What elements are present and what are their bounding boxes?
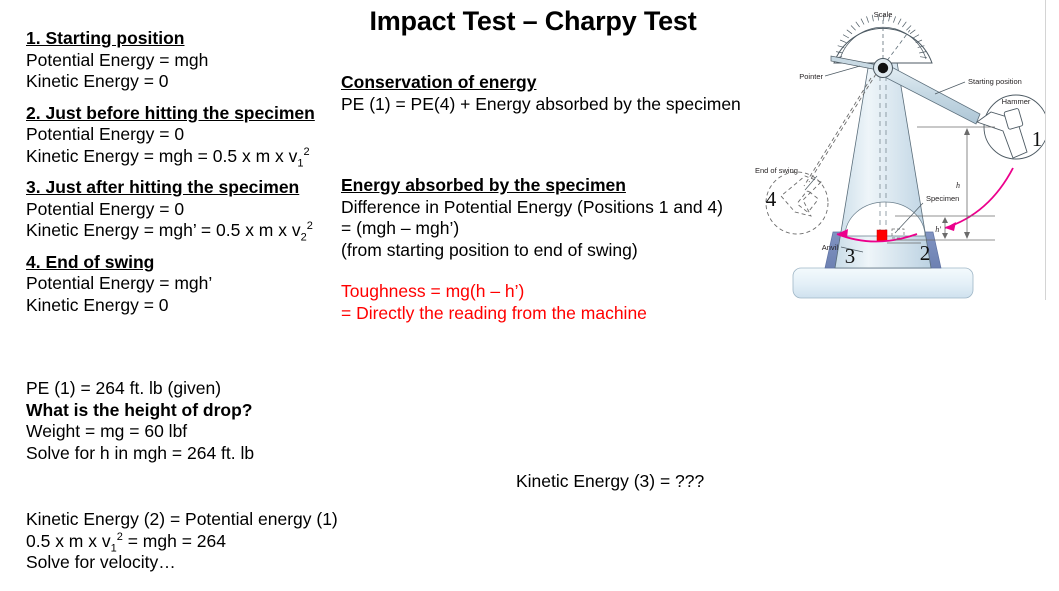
pointer-label: Pointer [799,72,823,81]
spacer [26,167,315,177]
charpy-machine-diagram: h h' Scale Pointer Starting position Ham… [745,0,1045,310]
pe1-given-line: PE (1) = 264 ft. lb (given) [26,378,254,400]
solve-for-velocity-line: Solve for velocity… [26,552,338,574]
section-3-line-2-superscript: 2 [307,220,313,232]
machine-base-group [793,268,973,298]
section-1: 1. Starting position Potential Energy = … [26,28,315,93]
dim-h-arrow-top [964,128,970,135]
starting-position-label: Starting position [968,77,1022,86]
conservation-of-energy-block: Conservation of energy PE (1) = PE(4) + … [341,72,741,115]
section-3-line-2-text: Kinetic Energy = mgh’ = 0.5 x m x v [26,220,301,240]
toughness-line-2: = Directly the reading from the machine [341,303,647,325]
conservation-heading: Conservation of energy [341,72,741,94]
toughness-line-1: Toughness = mg(h – h’) [341,281,647,303]
velocity-block: Kinetic Energy (2) = Potential energy (1… [26,509,338,574]
section-1-line-2: Kinetic Energy = 0 [26,71,315,93]
height-of-drop-question: What is the height of drop? [26,400,254,422]
dim-hprime-arrow-top [942,217,948,223]
slide-canvas: Impact Test – Charpy Test 1. Starting po… [0,0,1059,591]
position-number-2: 2 [920,241,931,265]
section-3-line-1: Potential Energy = 0 [26,199,315,221]
section-3-heading: 3. Just after hitting the specimen [26,177,315,199]
position-number-1: 1 [1032,127,1043,151]
specimen-label: Specimen [926,194,959,203]
section-4-line-2: Kinetic Energy = 0 [26,295,315,317]
position-number-3: 3 [845,244,856,268]
energy-absorbed-line-1: Difference in Potential Energy (Position… [341,197,723,219]
section-4: 4. End of swing Potential Energy = mgh’ … [26,252,315,317]
section-2-line-1: Potential Energy = 0 [26,124,315,146]
leader-starting-position [935,82,965,94]
section-1-heading: 1. Starting position [26,28,315,50]
section-2-line-2-superscript: 2 [304,146,310,158]
solve-for-h-line: Solve for h in mgh = 264 ft. lb [26,443,254,465]
section-2: 2. Just before hitting the specimen Pote… [26,103,315,168]
kinetic-energy-3-question: Kinetic Energy (3) = ??? [516,471,704,493]
pivot-center [878,63,888,73]
ke2-expansion-line: 0.5 x m x v12 = mgh = 264 [26,531,338,553]
position-number-4: 4 [766,187,777,211]
hammer-label: Hammer [1002,97,1031,106]
anvil-label: Anvil [822,243,839,252]
toughness-block: Toughness = mg(h – h’) = Directly the re… [341,281,647,324]
dim-h-label: h [956,181,960,190]
energy-absorbed-block: Energy absorbed by the specimen Differen… [341,175,723,261]
section-1-line-1: Potential Energy = mgh [26,50,315,72]
height-of-drop-block: PE (1) = 264 ft. lb (given) What is the … [26,378,254,464]
section-2-line-2-subscript: 1 [297,157,303,169]
energy-absorbed-line-3: (from starting position to end of swing) [341,240,723,262]
energy-absorbed-heading: Energy absorbed by the specimen [341,175,723,197]
weight-line: Weight = mg = 60 lbf [26,421,254,443]
energy-absorbed-line-2: = (mgh – mgh’) [341,218,723,240]
ke2-equals-pe1-line: Kinetic Energy (2) = Potential energy (1… [26,509,338,531]
section-2-heading: 2. Just before hitting the specimen [26,103,315,125]
page-title: Impact Test – Charpy Test [318,6,748,37]
machine-base [793,268,973,298]
leader-pointer [825,66,860,76]
ke2-expansion-suffix: = mgh = 264 [123,531,226,551]
conservation-line-1: PE (1) = PE(4) + Energy absorbed by the … [341,94,741,116]
ke2-expansion-prefix: 0.5 x m x v [26,531,111,551]
dim-h-arrow-bottom [964,232,970,239]
figure-right-border [1045,0,1046,300]
spacer [26,242,315,252]
section-3-line-2: Kinetic Energy = mgh’ = 0.5 x m x v22 [26,220,315,242]
section-4-heading: 4. End of swing [26,252,315,274]
section-2-line-2-text: Kinetic Energy = mgh = 0.5 x m x v [26,146,297,166]
pivot-group [874,59,893,78]
section-4-line-1: Potential Energy = mgh’ [26,273,315,295]
left-column: 1. Starting position Potential Energy = … [26,28,315,316]
specimen-block [877,230,887,241]
dim-h-prime-label: h' [935,225,941,234]
section-3-line-2-subscript: 2 [301,232,307,244]
scale-label: Scale [874,10,893,19]
dim-hprime-arrow-bottom [942,233,948,239]
end-of-swing-label: End of swing [755,166,798,175]
section-3: 3. Just after hitting the specimen Poten… [26,177,315,242]
spacer [26,93,315,103]
arrowhead-down [945,222,956,231]
section-2-line-2: Kinetic Energy = mgh = 0.5 x m x v12 [26,146,315,168]
